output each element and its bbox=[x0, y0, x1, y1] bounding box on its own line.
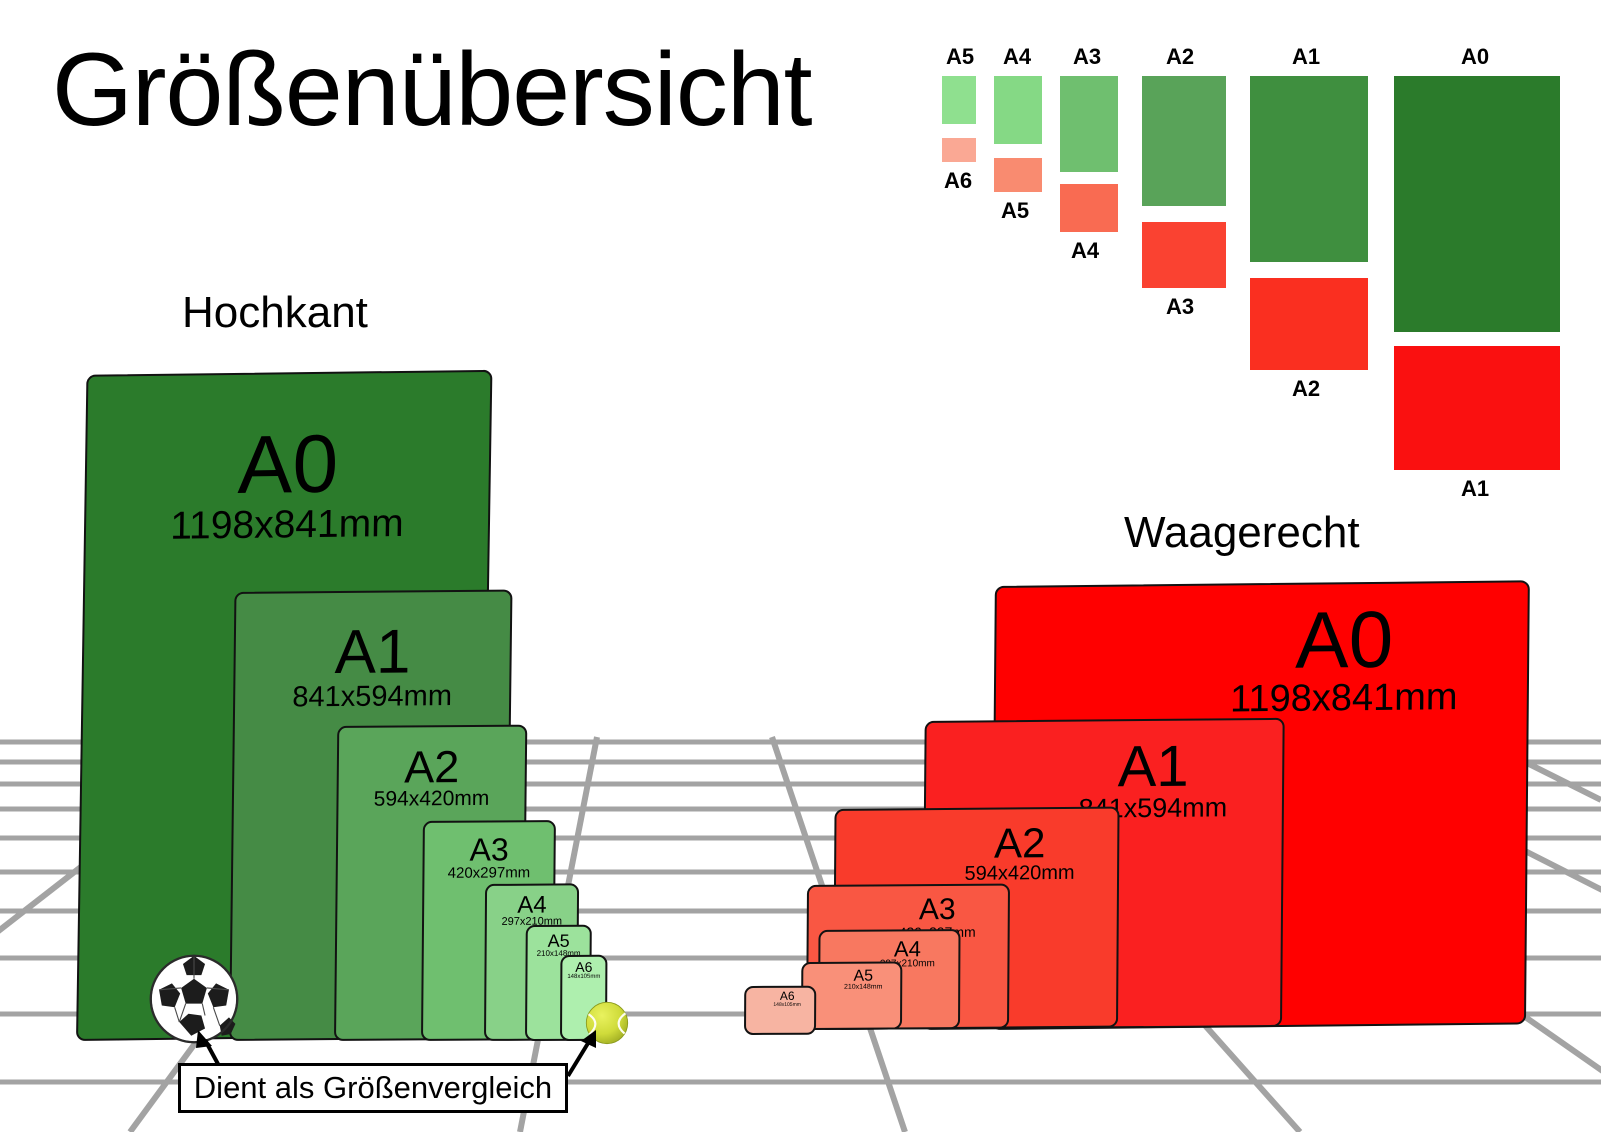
mini-top-label-0: A5 bbox=[938, 44, 982, 70]
mini-rect-landscape-0[interactable] bbox=[942, 138, 976, 162]
mini-size-comparison-diagram: A5 A6 A4 A5 A3 A4 A2 A3 A1 A2 A0 A1 bbox=[920, 40, 1590, 490]
mini-rect-portrait-5[interactable] bbox=[1394, 76, 1560, 332]
mini-top-label-3: A2 bbox=[1138, 44, 1222, 70]
mini-bottom-label-2: A4 bbox=[1056, 238, 1114, 264]
mini-rect-landscape-2[interactable] bbox=[1060, 184, 1118, 232]
mini-bottom-label-0: A6 bbox=[936, 168, 980, 194]
mini-rect-portrait-4[interactable] bbox=[1250, 76, 1368, 262]
size-comparison-callout: Dient als Größenvergleich bbox=[178, 1063, 568, 1113]
mini-rect-portrait-2[interactable] bbox=[1060, 76, 1118, 172]
mini-rect-portrait-0[interactable] bbox=[942, 76, 976, 124]
mini-top-label-2: A3 bbox=[1058, 44, 1116, 70]
mini-rect-landscape-4[interactable] bbox=[1250, 278, 1368, 370]
mini-bottom-label-1: A5 bbox=[990, 198, 1040, 224]
callout-text: Dient als Größenvergleich bbox=[194, 1070, 552, 1106]
mini-rect-landscape-3[interactable] bbox=[1142, 222, 1226, 288]
mini-rect-portrait-1[interactable] bbox=[994, 76, 1042, 144]
mini-top-label-5: A0 bbox=[1390, 44, 1560, 70]
mini-rect-landscape-1[interactable] bbox=[994, 158, 1042, 192]
mini-bottom-label-4: A2 bbox=[1246, 376, 1366, 402]
mini-bottom-label-3: A3 bbox=[1138, 294, 1222, 320]
mini-bottom-label-5: A1 bbox=[1390, 476, 1560, 502]
mini-top-label-1: A4 bbox=[992, 44, 1042, 70]
mini-rect-landscape-5[interactable] bbox=[1394, 346, 1560, 470]
infographic-canvas: Größenübersicht Hochkant Waagerecht A0 1… bbox=[0, 0, 1601, 1132]
mini-rect-portrait-3[interactable] bbox=[1142, 76, 1226, 206]
mini-top-label-4: A1 bbox=[1246, 44, 1366, 70]
